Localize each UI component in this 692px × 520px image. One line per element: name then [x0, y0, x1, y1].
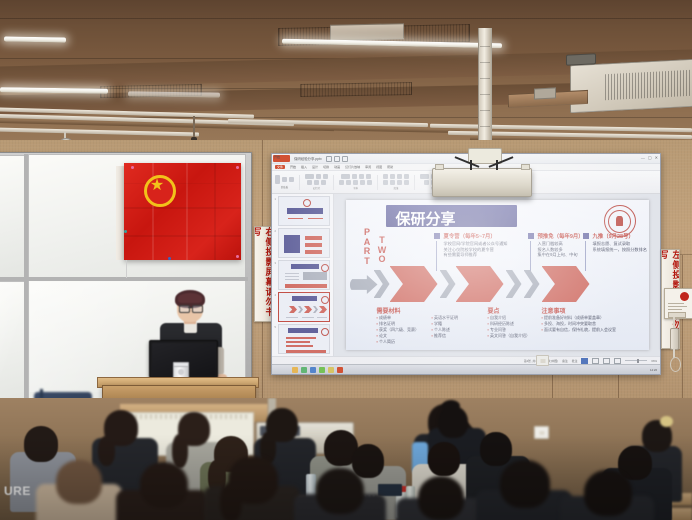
timeline-heading-2: 预推免（每年9月） [538, 232, 584, 240]
wechat-icon[interactable] [319, 367, 325, 373]
ac-mount-bracket [566, 53, 596, 66]
mail-icon[interactable] [310, 367, 316, 373]
slide-part-label: PART [363, 228, 372, 267]
slide-editing-area[interactable]: 保研分享 PART TWO 夏令营（每年5~7月） 学校官网/学院官网或者公众号… [334, 194, 660, 356]
ribbon-group-label: 幻灯片 [313, 186, 320, 190]
slide-part-number: TWO [378, 236, 387, 265]
zoom-level[interactable]: 66% [651, 359, 657, 363]
start-menu-label[interactable]: 开始 [274, 155, 280, 159]
timeline-marker-1 [434, 233, 440, 239]
bottom-list-3: 提前准备好材料（成绩单要盖章） 多投、海投，时间冲突要取舍 面试要有自信，保持礼… [542, 315, 617, 333]
tab-review[interactable]: 审阅 [365, 165, 371, 169]
timeline-lines-1: 学校官网/学院官网或者公众号通知 关注心仪院校学校的夏令营 有些需要导师推荐 [444, 241, 508, 258]
ribbon-group-paragraph[interactable]: 段落 [383, 174, 409, 190]
tab-home[interactable]: 开始 [290, 165, 296, 169]
redo-icon[interactable] [342, 156, 348, 162]
flag-star-icon: ★ [149, 178, 165, 194]
chevron-gray-2 [440, 270, 456, 298]
bottom-list-2: 自我介绍 科研经历陈述 专业问答 英文问答（自我介绍） [488, 315, 531, 339]
screen-pull-handle[interactable] [670, 328, 679, 350]
presenter-hair-fringe [178, 293, 202, 303]
slide-thumbnail[interactable]: 2 [278, 228, 330, 258]
chevron-red-2 [456, 266, 504, 302]
quick-access-toolbar[interactable] [326, 156, 348, 162]
save-icon[interactable] [326, 156, 332, 162]
timeline-marker-2 [528, 233, 534, 239]
warning-icon [680, 292, 689, 301]
ribbon-group-label: 字体 [353, 186, 358, 190]
timeline-lines-2: 入营门槛较高 报名人数较多 集中在9月上旬、中旬 [538, 241, 578, 258]
taskbar-clock: 14:26 [650, 368, 657, 372]
timeline-lines-3: 填报志愿、复试录取 系统填报统一，按照分数排名 [593, 241, 647, 252]
audience-area: URE RAW [0, 398, 692, 520]
chevron-red-1 [390, 266, 438, 302]
bottom-heading-3: 注意事项 [542, 306, 566, 315]
slide-thumbnail-panel[interactable]: 1 2 3 [272, 194, 334, 356]
ac-outlet-box [534, 87, 556, 99]
screen-pull-ring[interactable] [670, 357, 681, 372]
tab-view[interactable]: 视图 [376, 165, 382, 169]
zoom-slider[interactable] [625, 360, 647, 361]
windows-taskbar[interactable]: 开始 14:26 [272, 364, 660, 374]
timeline-marker-3 [583, 233, 589, 239]
tab-file[interactable]: 文件 [275, 165, 285, 169]
bottom-list-1-left: 成绩单 排名证明 获奖（四六级、竞赛） 论文 个人简历 [377, 315, 420, 345]
ribbon-group-font[interactable]: 字体 [339, 174, 372, 190]
ribbon-group-label: 段落 [394, 186, 399, 190]
comments-button[interactable]: 批注 [572, 359, 578, 363]
view-sorter-icon[interactable] [592, 358, 599, 364]
slide-title: 保研分享 [396, 208, 456, 229]
maximize-icon[interactable]: ▢ [648, 155, 652, 160]
ribbon-group-label: 剪贴板 [281, 185, 288, 189]
thumb-number: 4 [275, 294, 276, 297]
close-icon[interactable]: ✕ [655, 155, 658, 160]
thumb-number: 2 [275, 230, 276, 233]
bottom-heading-2: 要点 [488, 306, 500, 315]
ribbon-group-clipboard[interactable]: 剪贴板 [275, 175, 294, 189]
lecture-hall-photo: ★ 右侧投影屏幕请勿书写 保研经验分享.pptx — ▢ ✕ [0, 0, 692, 520]
chevron-arrow-start [350, 275, 378, 294]
slide-thumbnail[interactable]: 1 [278, 196, 330, 226]
ribbon-group-slides[interactable]: 幻灯片 [305, 174, 328, 190]
ppt-status-bar[interactable]: 第4张, 共12张 中文(中国) 备注 批注 66% [272, 356, 660, 364]
tab-slideshow[interactable]: 幻灯片放映 [345, 165, 360, 169]
ppt-document-title: 保研经验分享.pptx [294, 156, 322, 161]
projector-mount-pole [478, 28, 492, 148]
youth-league-flag [124, 163, 241, 260]
current-slide[interactable]: 保研分享 PART TWO 夏令营（每年5~7月） 学校官网/学院官网或者公众号… [346, 200, 649, 350]
folder-icon[interactable] [328, 367, 334, 373]
tab-help[interactable]: 帮助 [387, 165, 393, 169]
ppt-taskbar-icon[interactable] [337, 367, 343, 373]
tab-transitions[interactable]: 切换 [323, 165, 329, 169]
timeline-heading-3: 九推（9月28号） [593, 232, 634, 240]
ceiling-vent-3 [300, 82, 412, 97]
jacket-hook [40, 389, 43, 398]
thumb-number: 1 [275, 198, 276, 201]
ceiling-diffuser [330, 23, 404, 41]
edge-icon[interactable] [301, 367, 307, 373]
timeline-heading-1: 夏令营（每年5~7月） [444, 232, 496, 240]
slide-thumbnail-selected[interactable]: 4 [278, 292, 330, 322]
view-reading-icon[interactable] [603, 358, 610, 364]
flag-string [126, 260, 127, 278]
chevron-gray-4 [524, 270, 540, 298]
chevron-gray-3 [506, 270, 522, 298]
chevron-red-3 [542, 266, 590, 302]
explorer-icon[interactable] [292, 367, 298, 373]
tab-design[interactable]: 设计 [312, 165, 318, 169]
slide-thumbnail[interactable]: 5 [278, 324, 330, 354]
wall-power-outlet [536, 355, 549, 366]
tab-insert[interactable]: 插入 [301, 165, 307, 169]
wall-warning-notice [664, 288, 692, 319]
window-controls[interactable]: — ▢ ✕ [641, 155, 658, 160]
ppt-workspace: 1 2 3 [272, 194, 660, 356]
mic-wire [193, 116, 195, 138]
presenter-glasses-right [192, 305, 203, 313]
minimize-icon[interactable]: — [641, 155, 645, 160]
tab-animations[interactable]: 动画 [334, 165, 340, 169]
bottom-list-1-right: 英语水平证明 学籍 个人陈述 推荐信 [432, 315, 459, 339]
ceiling-projector [432, 168, 532, 197]
slide-thumbnail[interactable]: 3 [278, 260, 330, 290]
whiteboard-panel-top-left [0, 155, 26, 279]
ac-grille [605, 70, 692, 101]
notes-button[interactable]: 备注 [562, 359, 568, 363]
view-slideshow-icon[interactable] [614, 358, 621, 364]
thumb-number: 3 [275, 262, 276, 265]
view-normal-icon[interactable] [581, 358, 588, 364]
bottom-heading-1: 需要材料 [377, 306, 401, 315]
undo-icon[interactable] [334, 156, 340, 162]
thumb-number: 5 [275, 326, 276, 329]
